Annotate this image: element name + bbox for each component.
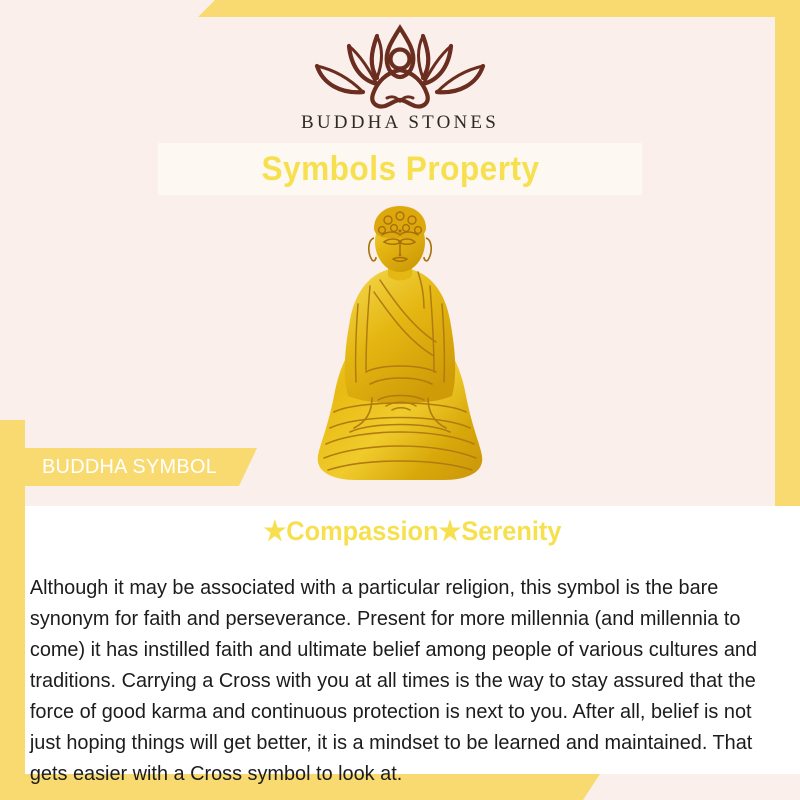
attribute-compassion: Compassion — [286, 516, 438, 546]
star-icon-right: ★ — [439, 516, 462, 546]
seated-buddha-statue — [310, 200, 490, 490]
symbol-category-label: BUDDHA SYMBOL — [42, 455, 217, 479]
attribute-serenity: Serenity — [461, 516, 561, 546]
page-title: Symbols Property — [261, 150, 539, 189]
lotus-meditation-icon — [307, 22, 493, 110]
star-icon-left: ★ — [263, 516, 286, 546]
title-banner: Symbols Property — [158, 143, 642, 195]
brand-logo: BUDDHA STONES — [0, 22, 800, 134]
decorative-frame-left-strip — [0, 420, 25, 800]
content-panel: ★Compassion★Serenity Although it may be … — [25, 506, 800, 774]
decorative-frame-top-band — [0, 0, 800, 17]
symbol-description-paragraph: Although it may be associated with a par… — [25, 567, 781, 790]
attributes-heading: ★Compassion★Serenity — [48, 506, 777, 547]
symbol-category-ribbon: BUDDHA SYMBOL — [25, 448, 257, 486]
brand-wordmark: BUDDHA STONES — [0, 112, 800, 134]
